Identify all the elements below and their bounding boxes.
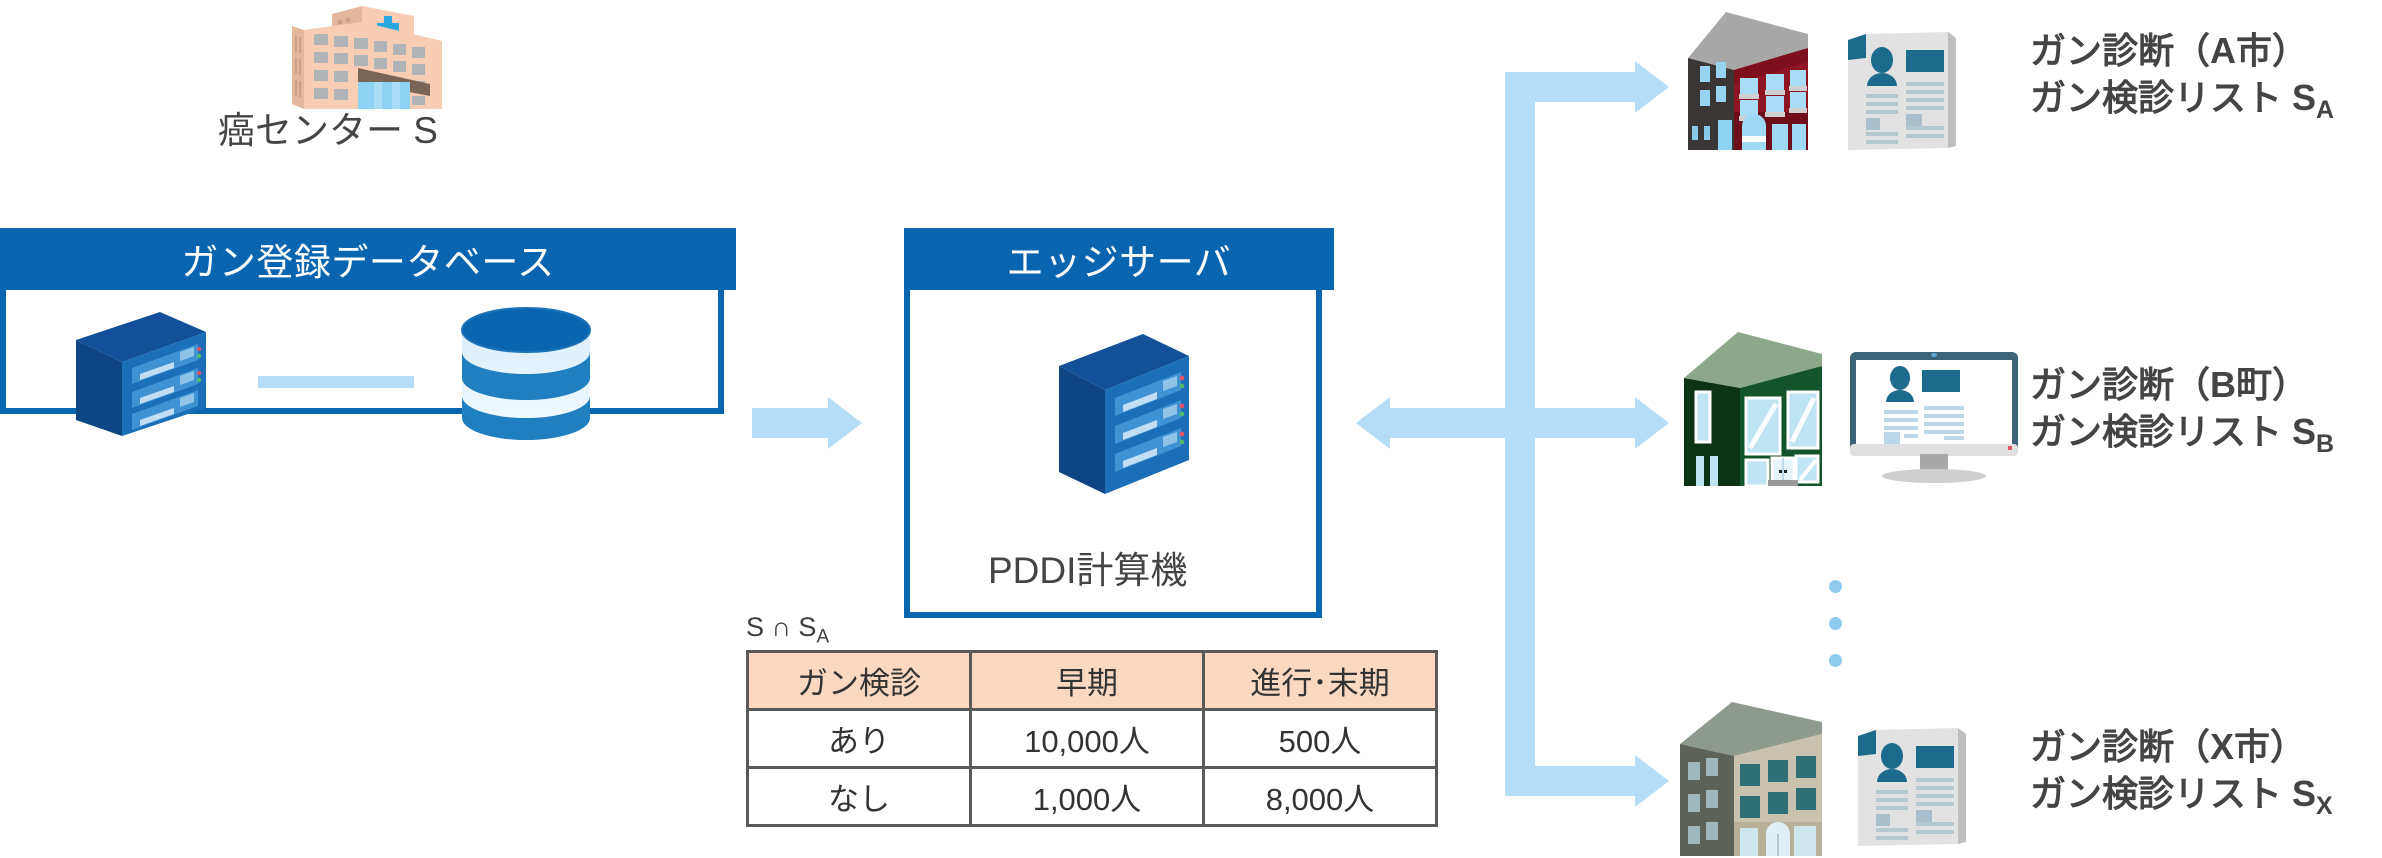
site-a-list-prefix: ガン検診リスト S <box>2030 77 2316 118</box>
site-a-line1: ガン診断（A市） <box>2030 28 2334 75</box>
table-cell-row0-col1: 10,000人 <box>971 710 1204 768</box>
table-row: なし 1,000人 8,000人 <box>748 768 1437 826</box>
server-rack-icon <box>56 304 216 444</box>
table-cell-row0-col2: 500人 <box>1204 710 1437 768</box>
link-connector-bar <box>258 376 414 388</box>
server-rack-icon <box>1039 326 1199 502</box>
table-caption-subscript: A <box>816 626 829 647</box>
table-header-row: ガン検診 早期 進行･末期 <box>748 652 1437 710</box>
registry-panel-body <box>6 290 718 408</box>
site-b-list-prefix: ガン検診リスト S <box>2030 411 2316 452</box>
table-cell-row1-col1: 1,000人 <box>971 768 1204 826</box>
screening-stats-table: ガン検診 早期 進行･末期 あり 10,000人 500人 なし 1,000人 … <box>746 650 1438 827</box>
site-label-b: ガン診断（B町） ガン検診リスト SB <box>2030 362 2334 460</box>
site-x-line1: ガン診断（X市） <box>2030 724 2333 771</box>
document-record-icon <box>1838 16 1958 150</box>
beige-office-building-icon <box>1676 700 1826 856</box>
site-a-list-subscript: A <box>2316 96 2334 124</box>
site-label-a: ガン診断（A市） ガン検診リスト SA <box>2030 28 2334 126</box>
site-a-line2: ガン検診リスト SA <box>2030 75 2334 127</box>
table-header-advanced: 進行･末期 <box>1204 652 1437 710</box>
green-clinic-building-icon <box>1680 330 1826 486</box>
table-cell-row0-col0: あり <box>748 710 971 768</box>
cancer-center-label: 癌センター S <box>218 100 438 154</box>
table-caption: S ∩ SA <box>746 612 829 648</box>
table-cell-row1-col2: 8,000人 <box>1204 768 1437 826</box>
red-office-building-icon <box>1682 4 1812 150</box>
diagram-canvas: 癌センター S ガン登録データベース <box>0 0 2382 858</box>
table-caption-prefix: S ∩ S <box>746 612 816 642</box>
database-cylinder-icon <box>446 304 606 444</box>
site-x-line2: ガン検診リスト SX <box>2030 771 2333 823</box>
table-header-screening: ガン検診 <box>748 652 971 710</box>
site-x-list-subscript: X <box>2316 792 2333 820</box>
site-x-list-prefix: ガン検診リスト S <box>2030 773 2316 814</box>
vertical-ellipsis-icon <box>1829 580 1842 691</box>
pddi-compute-label: PDDI計算機 <box>988 540 1187 594</box>
registry-panel-title: ガン登録データベース <box>0 228 736 290</box>
site-label-x: ガン診断（X市） ガン検診リスト SX <box>2030 724 2333 822</box>
table-cell-row1-col0: なし <box>748 768 971 826</box>
edge-panel-title: エッジサーバ <box>904 228 1334 290</box>
monitor-record-icon <box>1848 348 2020 484</box>
table-header-early: 早期 <box>971 652 1204 710</box>
site-b-list-subscript: B <box>2316 430 2334 458</box>
table-row: あり 10,000人 500人 <box>748 710 1437 768</box>
document-record-icon <box>1848 712 1968 846</box>
site-b-line1: ガン診断（B町） <box>2030 362 2334 409</box>
cancer-registry-database-panel: ガン登録データベース <box>0 228 724 414</box>
site-b-line2: ガン検診リスト SB <box>2030 409 2334 461</box>
